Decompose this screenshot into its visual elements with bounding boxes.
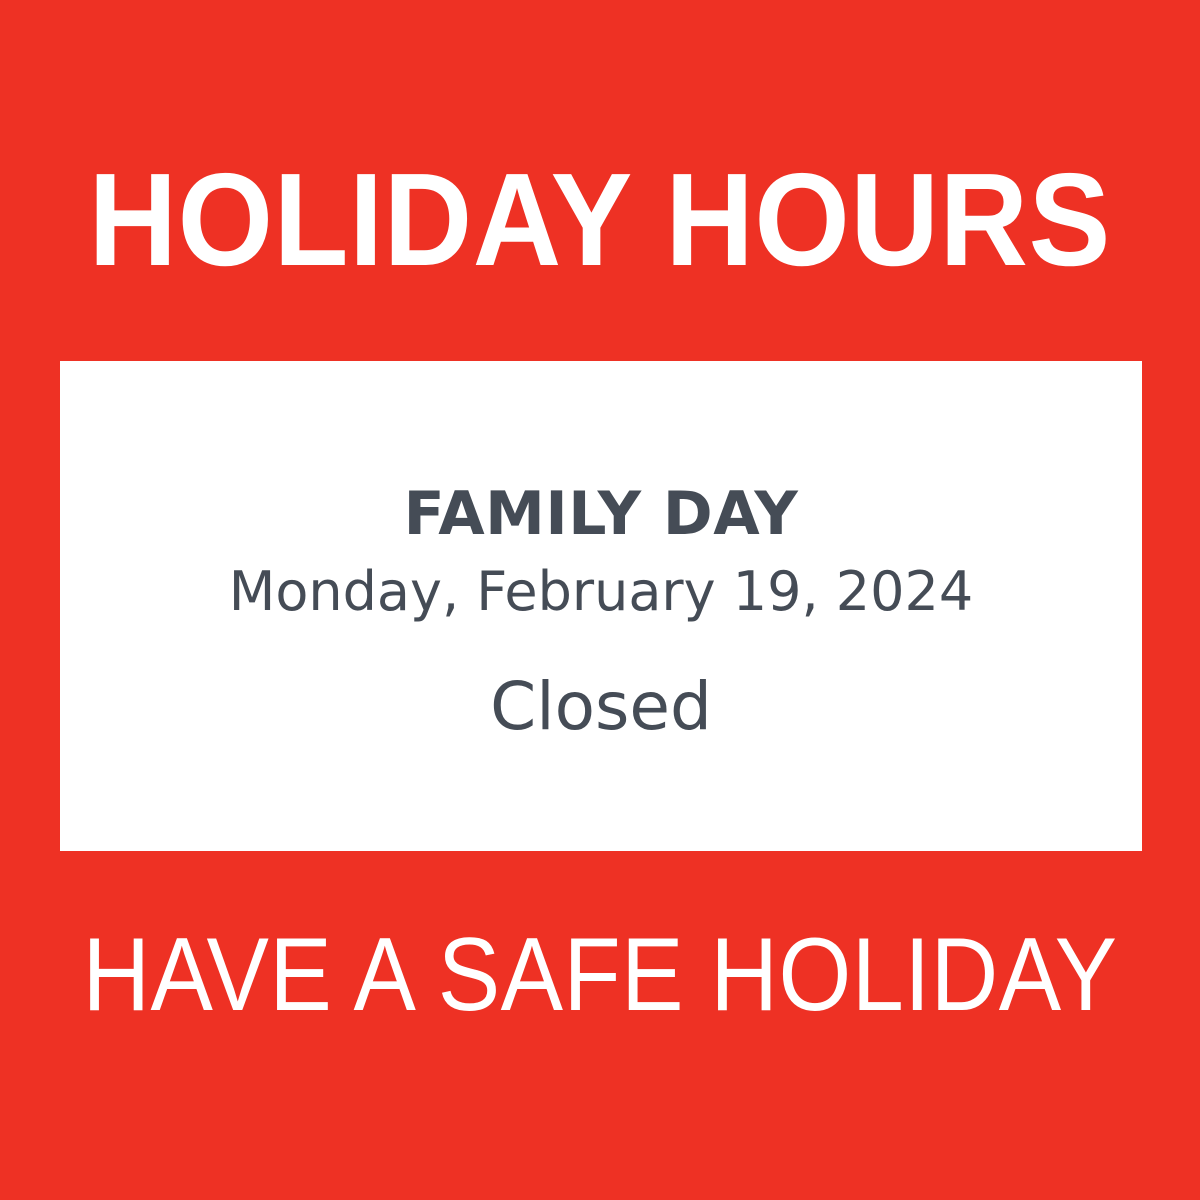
holiday-info-card-content: FAMILY DAY Monday, February 19, 2024 Clo…	[60, 483, 1142, 744]
status-badge: Closed	[60, 671, 1142, 744]
holiday-info-card: FAMILY DAY Monday, February 19, 2024 Clo…	[60, 361, 1142, 851]
page-title: HOLIDAY HOURS	[89, 154, 1111, 286]
holiday-hours-poster: HOLIDAY HOURS FAMILY DAY Monday, Februar…	[0, 0, 1200, 1200]
holiday-date: Monday, February 19, 2024	[60, 562, 1142, 621]
footer-band: HAVE A SAFE HOLIDAY	[0, 910, 1200, 1040]
holiday-name: FAMILY DAY	[60, 483, 1142, 546]
footer-message: HAVE A SAFE HOLIDAY	[82, 923, 1117, 1027]
title-band: HOLIDAY HOURS	[0, 150, 1200, 290]
